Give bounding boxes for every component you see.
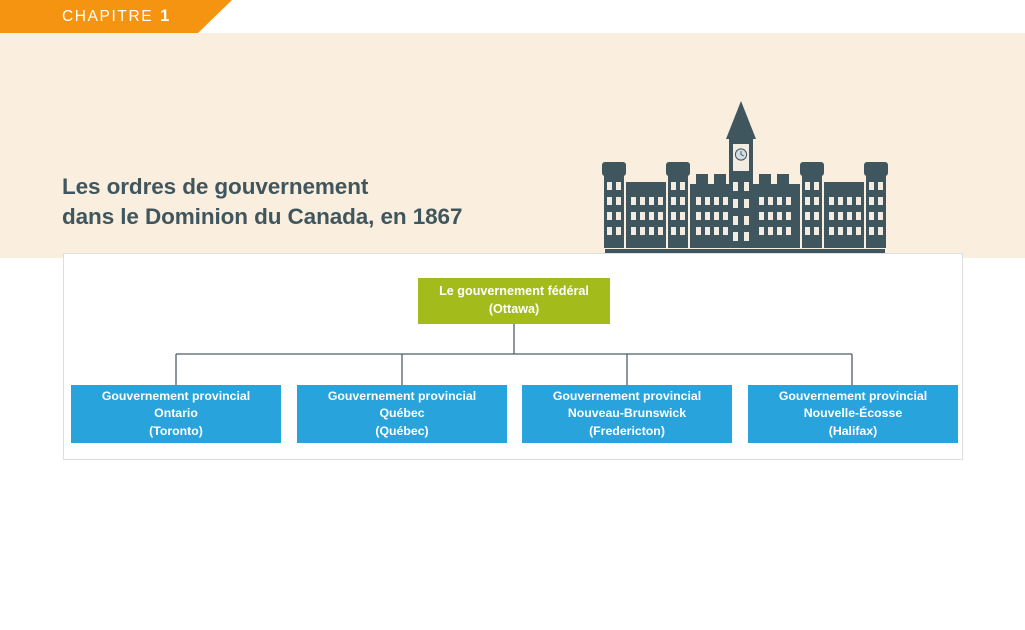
node-federal-line-1: Le gouvernement fédéral (439, 283, 589, 301)
node-prov-0-line-2: Ontario (154, 405, 198, 422)
node-provincial-nouvelle-ecosse[interactable]: Gouvernement provincial Nouvelle-Écosse … (748, 385, 958, 443)
node-prov-1-line-1: Gouvernement provincial (328, 388, 476, 405)
chapter-number: 1 (160, 7, 169, 26)
parliament-building-icon (597, 96, 893, 261)
title-year: 1867 (413, 204, 463, 229)
title-line-2: dans le Dominion du Canada, en 1867 (62, 202, 462, 232)
node-prov-1-line-3: (Québec) (375, 423, 428, 440)
node-prov-3-line-1: Gouvernement provincial (779, 388, 927, 405)
page-title: Les ordres de gouvernement dans le Domin… (62, 172, 462, 232)
node-prov-2-line-1: Gouvernement provincial (553, 388, 701, 405)
org-chart-container: Le gouvernement fédéral (Ottawa) Gouvern… (63, 253, 963, 460)
node-prov-0-line-1: Gouvernement provincial (102, 388, 250, 405)
node-provincial-nouveau-brunswick[interactable]: Gouvernement provincial Nouveau-Brunswic… (522, 385, 732, 443)
node-prov-0-line-3: (Toronto) (149, 423, 203, 440)
node-prov-2-line-3: (Fredericton) (589, 423, 665, 440)
chapter-banner: CHAPITRE 1 (0, 0, 232, 33)
node-federal-government[interactable]: Le gouvernement fédéral (Ottawa) (418, 278, 610, 324)
node-federal-line-2: (Ottawa) (489, 301, 539, 319)
node-prov-3-line-2: Nouvelle-Écosse (804, 405, 902, 422)
node-provincial-ontario[interactable]: Gouvernement provincial Ontario (Toronto… (71, 385, 281, 443)
title-line-1: Les ordres de gouvernement (62, 172, 462, 202)
node-prov-2-line-2: Nouveau-Brunswick (568, 405, 686, 422)
node-provincial-quebec[interactable]: Gouvernement provincial Québec (Québec) (297, 385, 507, 443)
title-line-2-text: dans le Dominion du Canada, en (62, 204, 413, 229)
node-prov-1-line-2: Québec (379, 405, 424, 422)
chapter-label: CHAPITRE (62, 8, 153, 26)
node-prov-3-line-3: (Halifax) (829, 423, 878, 440)
